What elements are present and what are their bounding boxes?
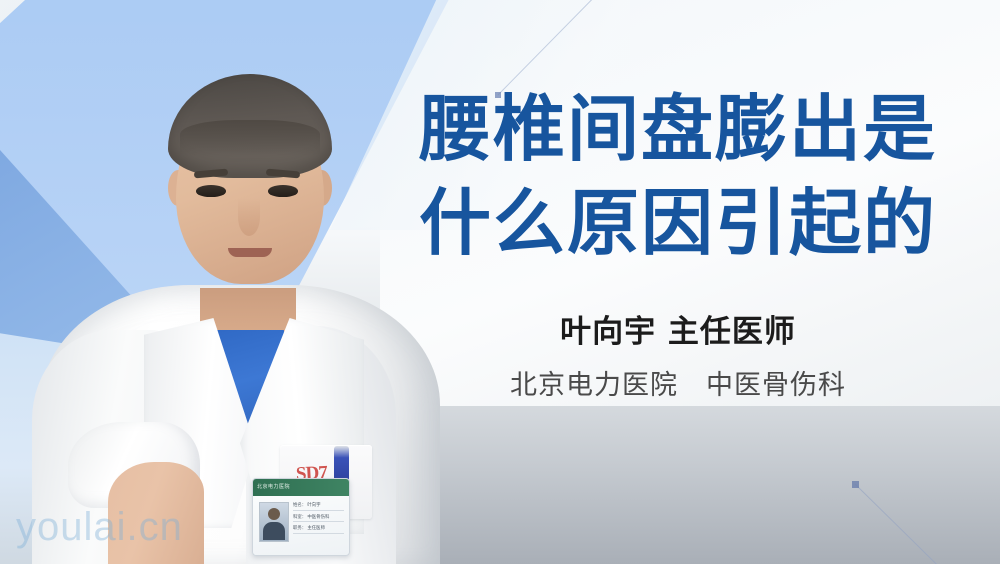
- title-line-2: 什么原因引起的: [382, 176, 974, 270]
- badge-info-lines: 姓名： 叶向宇 科室： 中医骨伤科 职务： 主任医师: [293, 501, 344, 536]
- badge-row: 职务： 主任医师: [293, 524, 344, 534]
- badge-row: 科室： 中医骨伤科: [293, 513, 344, 523]
- eye-right: [268, 185, 298, 197]
- doctor-portrait: SD7 北京电力医院 姓名： 叶向宇 科室： 中医骨伤科 职务： 主任医师: [40, 30, 440, 564]
- presenter-name-line: 叶向宇 主任医师: [382, 312, 974, 352]
- presenter-affiliation-line: 北京电力医院 中医骨伤科: [382, 368, 974, 404]
- badge-header: 北京电力医院: [253, 479, 349, 496]
- nose: [238, 198, 260, 236]
- video-cover-canvas: SD7 北京电力医院 姓名： 叶向宇 科室： 中医骨伤科 职务： 主任医师 腰椎…: [0, 0, 1000, 564]
- eye-left: [196, 185, 226, 197]
- hair: [168, 74, 332, 178]
- badge-row: 姓名： 叶向宇: [293, 501, 344, 511]
- site-watermark: youlai.cn: [16, 505, 183, 550]
- mouth: [228, 248, 272, 257]
- id-badge: 北京电力医院 姓名： 叶向宇 科室： 中医骨伤科 职务： 主任医师: [252, 478, 350, 556]
- title-line-1: 腰椎间盘膨出是: [382, 82, 974, 176]
- video-title: 腰椎间盘膨出是 什么原因引起的: [382, 82, 974, 270]
- badge-photo: [259, 502, 289, 542]
